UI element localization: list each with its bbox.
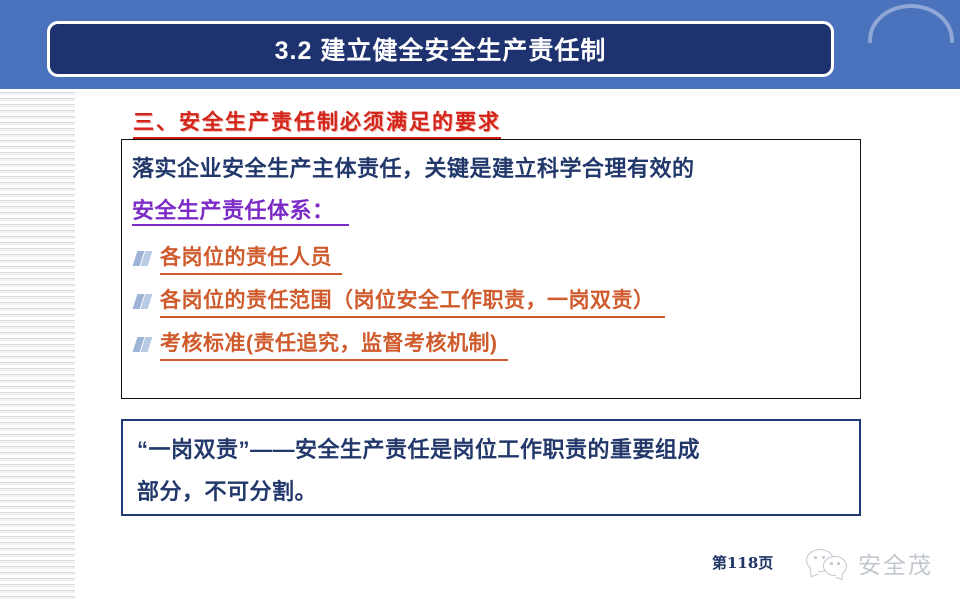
- content-box: 落实企业安全生产主体责任，关键是建立科学合理有效的 安全生产责任体系： 各岗位的…: [121, 139, 861, 399]
- quote-line-2: 部分，不可分割。: [137, 471, 845, 513]
- bullet-list: 各岗位的责任人员 各岗位的责任范围（岗位安全工作职责，一岗双责） 考核标准(责任…: [132, 236, 850, 365]
- list-item-label: 各岗位的责任人员: [160, 241, 342, 275]
- diamond-bullet-icon: [132, 334, 154, 354]
- stripe-pattern-fade: [75, 89, 89, 601]
- list-item: 考核标准(责任追究，监督考核机制): [132, 322, 850, 365]
- page-number: 第118页: [712, 552, 773, 573]
- quote-box: “一岗双责”——安全生产责任是岗位工作职责的重要组成 部分，不可分割。: [121, 419, 861, 516]
- slide-canvas: 3.2 建立健全安全生产责任制 三、安全生产责任制必须满足的要求 落实企业安全生…: [0, 0, 960, 601]
- diamond-bullet-icon: [132, 248, 154, 268]
- stripe-pattern-decoration: [0, 89, 79, 601]
- list-item: 各岗位的责任范围（岗位安全工作职责，一岗双责）: [132, 279, 850, 322]
- emphasis-line-text: 安全生产责任体系：: [132, 198, 349, 226]
- arc-decoration-icon: [868, 4, 954, 76]
- watermark: 安全茂: [806, 546, 933, 580]
- emphasis-line: 安全生产责任体系：: [132, 190, 850, 232]
- page-title: 3.2 建立健全安全生产责任制: [275, 31, 607, 67]
- quote-line-1: “一岗双责”——安全生产责任是岗位工作职责的重要组成: [137, 429, 845, 471]
- intro-line: 落实企业安全生产主体责任，关键是建立科学合理有效的: [132, 148, 850, 190]
- list-item-label: 考核标准(责任追究，监督考核机制): [160, 327, 508, 361]
- section-heading: 三、安全生产责任制必须满足的要求: [133, 106, 501, 139]
- list-item: 各岗位的责任人员: [132, 236, 850, 279]
- watermark-label: 安全茂: [858, 546, 933, 580]
- wechat-logo-icon: [806, 547, 850, 579]
- list-item-label: 各岗位的责任范围（岗位安全工作职责，一岗双责）: [160, 284, 665, 318]
- diamond-bullet-icon: [132, 291, 154, 311]
- slide-title-bar: 3.2 建立健全安全生产责任制: [47, 21, 834, 77]
